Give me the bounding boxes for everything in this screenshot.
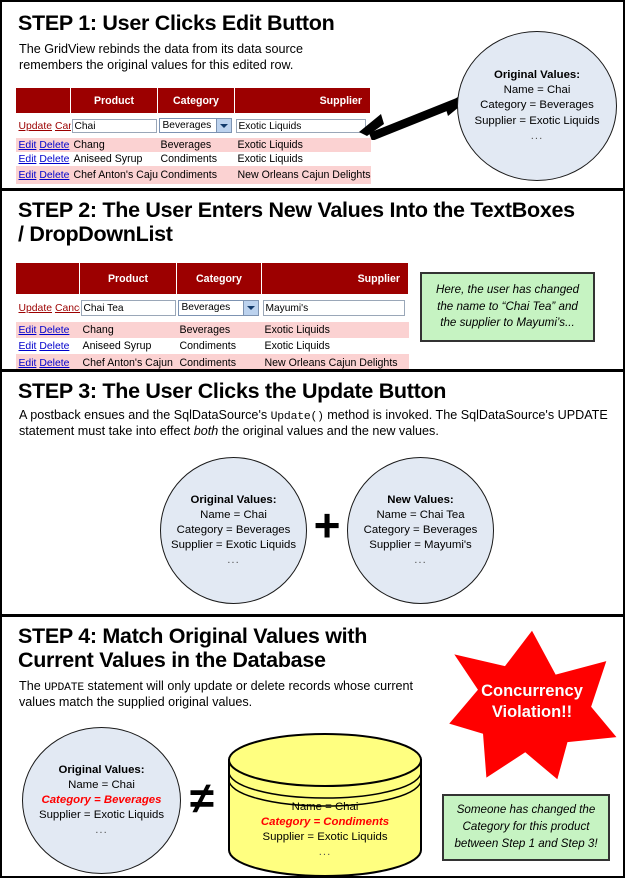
original-values-bubble-step-3: Original Values: Name = Chai Category = … <box>160 457 307 604</box>
step-3-body-part-3: the original values and the new values. <box>218 424 439 438</box>
delete-link[interactable]: Delete <box>39 140 69 151</box>
edit-link[interactable]: Edit <box>19 358 37 369</box>
star-line-1: Concurrency <box>481 682 583 700</box>
table-row[interactable]: Edit Delete Aniseed Syrup Condiments Exo… <box>16 152 371 166</box>
table-header-row: Product Category Supplier <box>16 263 409 295</box>
row-commands: Edit Delete <box>16 322 80 338</box>
not-equal-operator: ≠ <box>179 777 225 821</box>
category-cell: Condiments <box>177 354 262 370</box>
supplier-textbox[interactable]: Exotic Liquids <box>236 119 366 133</box>
gridview-step-2[interactable]: Product Category Supplier Update Cancel … <box>15 262 409 369</box>
row-commands: Edit Delete <box>16 152 71 166</box>
table-row-editing[interactable]: Update Cancel Chai Tea Beverages Mayumi'… <box>16 295 409 322</box>
delete-link[interactable]: Delete <box>39 341 69 352</box>
bubble-heading: New Values: <box>387 494 453 506</box>
bubble-text: Original Values: Name = Chai Category = … <box>474 68 599 144</box>
bubble-line-4: ... <box>95 824 108 836</box>
category-dropdown-value: Beverages <box>163 120 212 131</box>
supplier-cell: Exotic Liquids <box>262 338 409 354</box>
column-header-blank <box>16 263 80 295</box>
cancel-link[interactable]: Cancel <box>55 303 80 314</box>
bubble-line-1: Name = Chai <box>68 779 135 791</box>
table-row[interactable]: Edit Delete Aniseed Syrup Condiments Exo… <box>16 338 409 354</box>
supplier-cell: New Orleans Cajun Delights <box>262 354 409 370</box>
step-3-body-part-1: A postback ensues and the SqlDataSource'… <box>19 408 271 422</box>
category-cell: Condiments <box>158 152 235 166</box>
product-textbox[interactable]: Chai Tea <box>81 300 176 316</box>
db-line-1: Name = Chai <box>292 801 359 813</box>
star-label: Concurrency Violation!! <box>447 681 617 722</box>
bubble-heading: Original Values: <box>190 494 276 506</box>
step-1-panel: STEP 1: User Clicks Edit Button The Grid… <box>2 4 625 189</box>
bubble-line-2: Category = Beverages <box>177 524 291 536</box>
bubble-line-1: Name = Chai Tea <box>376 509 464 521</box>
bubble-heading: Original Values: <box>494 69 580 81</box>
product-cell-edit: Chai <box>71 114 158 138</box>
column-header-supplier: Supplier <box>235 88 371 114</box>
bubble-line-4: ... <box>414 554 427 566</box>
product-cell: Chef Anton's Cajun <box>71 166 158 184</box>
category-cell: Beverages <box>177 322 262 338</box>
concurrency-violation-star: Concurrency Violation!! <box>447 629 617 781</box>
product-textbox[interactable]: Chai <box>72 119 157 133</box>
product-cell: Chang <box>71 138 158 152</box>
step-1-title: STEP 1: User Clicks Edit Button <box>18 11 498 35</box>
new-values-bubble-step-3: New Values: Name = Chai Tea Category = B… <box>347 457 494 604</box>
supplier-textbox[interactable]: Mayumi's <box>263 300 405 316</box>
column-header-supplier: Supplier <box>262 263 409 295</box>
db-line-4: ... <box>319 846 332 858</box>
step-2-panel: STEP 2: The User Enters New Values Into … <box>2 191 625 369</box>
db-line-2-highlight: Category = Condiments <box>261 816 389 828</box>
row-commands: Edit Delete <box>16 138 71 152</box>
step-4-callout: Someone has changed the Category for thi… <box>442 794 610 861</box>
column-header-product: Product <box>71 88 158 114</box>
supplier-cell: New Orleans Cajun Delights <box>235 166 371 184</box>
step-3-body: A postback ensues and the SqlDataSource'… <box>19 408 611 440</box>
supplier-cell: Exotic Liquids <box>235 152 371 166</box>
database-text: Name = Chai Category = Condiments Suppli… <box>227 800 423 861</box>
chevron-down-icon[interactable] <box>243 301 258 315</box>
category-cell: Condiments <box>177 338 262 354</box>
category-dropdownlist[interactable]: Beverages <box>159 118 232 133</box>
delete-link[interactable]: Delete <box>39 170 69 181</box>
original-values-bubble-step-1: Original Values: Name = Chai Category = … <box>457 31 617 181</box>
product-cell-edit: Chai Tea <box>80 295 177 322</box>
row-commands: Edit Delete <box>16 338 80 354</box>
step-3-body-emphasis: both <box>194 424 219 438</box>
edit-link[interactable]: Edit <box>19 341 37 352</box>
db-line-3: Supplier = Exotic Liquids <box>262 831 387 843</box>
category-cell-edit: Beverages <box>158 114 235 138</box>
step-1-body: The GridView rebinds the data from its d… <box>19 42 364 73</box>
step-4-body-part-1: The <box>19 679 44 693</box>
original-values-bubble-step-4: Original Values: Name = Chai Category = … <box>22 727 181 874</box>
product-cell: Aniseed Syrup <box>80 338 177 354</box>
edit-link[interactable]: Edit <box>19 325 37 336</box>
update-link[interactable]: Update <box>19 121 53 132</box>
table-row[interactable]: Edit Delete Chef Anton's Cajun Condiment… <box>16 166 371 184</box>
bubble-text: New Values: Name = Chai Tea Category = B… <box>364 493 478 569</box>
row-commands: Update Cancel <box>16 295 80 322</box>
bubble-line-3: Supplier = Exotic Liquids <box>474 115 599 127</box>
double-arrow-icon <box>357 92 472 140</box>
bubble-line-2: Category = Beverages <box>480 99 594 111</box>
table-row[interactable]: Edit Delete Chang Beverages Exotic Liqui… <box>16 138 371 152</box>
bubble-line-4: ... <box>531 130 544 142</box>
step-3-title: STEP 3: The User Clicks the Update Butto… <box>18 379 558 403</box>
update-link[interactable]: Update <box>19 303 53 314</box>
product-cell: Chang <box>80 322 177 338</box>
column-header-category: Category <box>177 263 262 295</box>
category-dropdown-value: Beverages <box>182 302 231 313</box>
column-header-blank <box>16 88 71 114</box>
star-line-2: Violation!! <box>492 703 572 721</box>
supplier-cell-edit: Exotic Liquids <box>235 114 371 138</box>
supplier-cell: Exotic Liquids <box>235 138 371 152</box>
update-statement-code: UPDATE <box>44 682 84 694</box>
table-row-editing[interactable]: Update Cancel Chai Beverages Exotic Liqu… <box>16 114 371 138</box>
step-3-panel: STEP 3: The User Clicks the Update Butto… <box>2 372 625 614</box>
bubble-line-1: Name = Chai <box>504 84 571 96</box>
plus-operator: + <box>307 502 347 548</box>
edit-link[interactable]: Edit <box>19 140 37 151</box>
diagram-page: STEP 1: User Clicks Edit Button The Grid… <box>0 0 625 878</box>
chevron-down-icon[interactable] <box>216 119 231 132</box>
bubble-line-1: Name = Chai <box>200 509 267 521</box>
product-cell: Chef Anton's Cajun <box>80 354 177 370</box>
step-2-callout: Here, the user has changed the name to “… <box>420 272 595 342</box>
bubble-line-2: Category = Beverages <box>364 524 478 536</box>
step-2-title: STEP 2: The User Enters New Values Into … <box>18 198 578 247</box>
row-commands: Update Cancel <box>16 114 71 138</box>
bubble-text: Original Values: Name = Chai Category = … <box>171 493 296 569</box>
category-cell: Beverages <box>158 138 235 152</box>
step-4-panel: STEP 4: Match Original Values with Curre… <box>2 617 625 878</box>
category-cell: Condiments <box>158 166 235 184</box>
row-commands: Edit Delete <box>16 354 80 370</box>
product-cell: Aniseed Syrup <box>71 152 158 166</box>
update-method-code: Update() <box>271 411 324 423</box>
table-row[interactable]: Edit Delete Chef Anton's Cajun Condiment… <box>16 354 409 370</box>
table-header-row: Product Category Supplier <box>16 88 371 114</box>
bubble-text: Original Values: Name = Chai Category = … <box>39 763 164 839</box>
bubble-line-2-highlight: Category = Beverages <box>42 794 162 806</box>
bubble-line-4: ... <box>227 554 240 566</box>
category-cell-edit: Beverages <box>177 295 262 322</box>
bubble-line-3: Supplier = Mayumi's <box>369 539 472 551</box>
bubble-line-3: Supplier = Exotic Liquids <box>171 539 296 551</box>
database-cylinder: Name = Chai Category = Condiments Suppli… <box>227 732 423 878</box>
bubble-line-3: Supplier = Exotic Liquids <box>39 809 164 821</box>
edit-link[interactable]: Edit <box>19 154 37 165</box>
column-header-product: Product <box>80 263 177 295</box>
edit-link[interactable]: Edit <box>19 170 37 181</box>
bubble-heading: Original Values: <box>58 764 144 776</box>
supplier-cell-edit: Mayumi's <box>262 295 409 322</box>
step-4-title: STEP 4: Match Original Values with Curre… <box>18 624 438 673</box>
delete-link[interactable]: Delete <box>39 325 69 336</box>
delete-link[interactable]: Delete <box>39 154 69 165</box>
step-4-body: The UPDATE statement will only update or… <box>19 679 444 711</box>
gridview-step-1[interactable]: Product Category Supplier Update Cancel … <box>15 87 371 184</box>
category-dropdownlist[interactable]: Beverages <box>178 300 259 316</box>
cancel-link[interactable]: Cancel <box>55 121 71 132</box>
delete-link[interactable]: Delete <box>39 358 69 369</box>
table-row[interactable]: Edit Delete Chang Beverages Exotic Liqui… <box>16 322 409 338</box>
row-commands: Edit Delete <box>16 166 71 184</box>
supplier-cell: Exotic Liquids <box>262 322 409 338</box>
column-header-category: Category <box>158 88 235 114</box>
